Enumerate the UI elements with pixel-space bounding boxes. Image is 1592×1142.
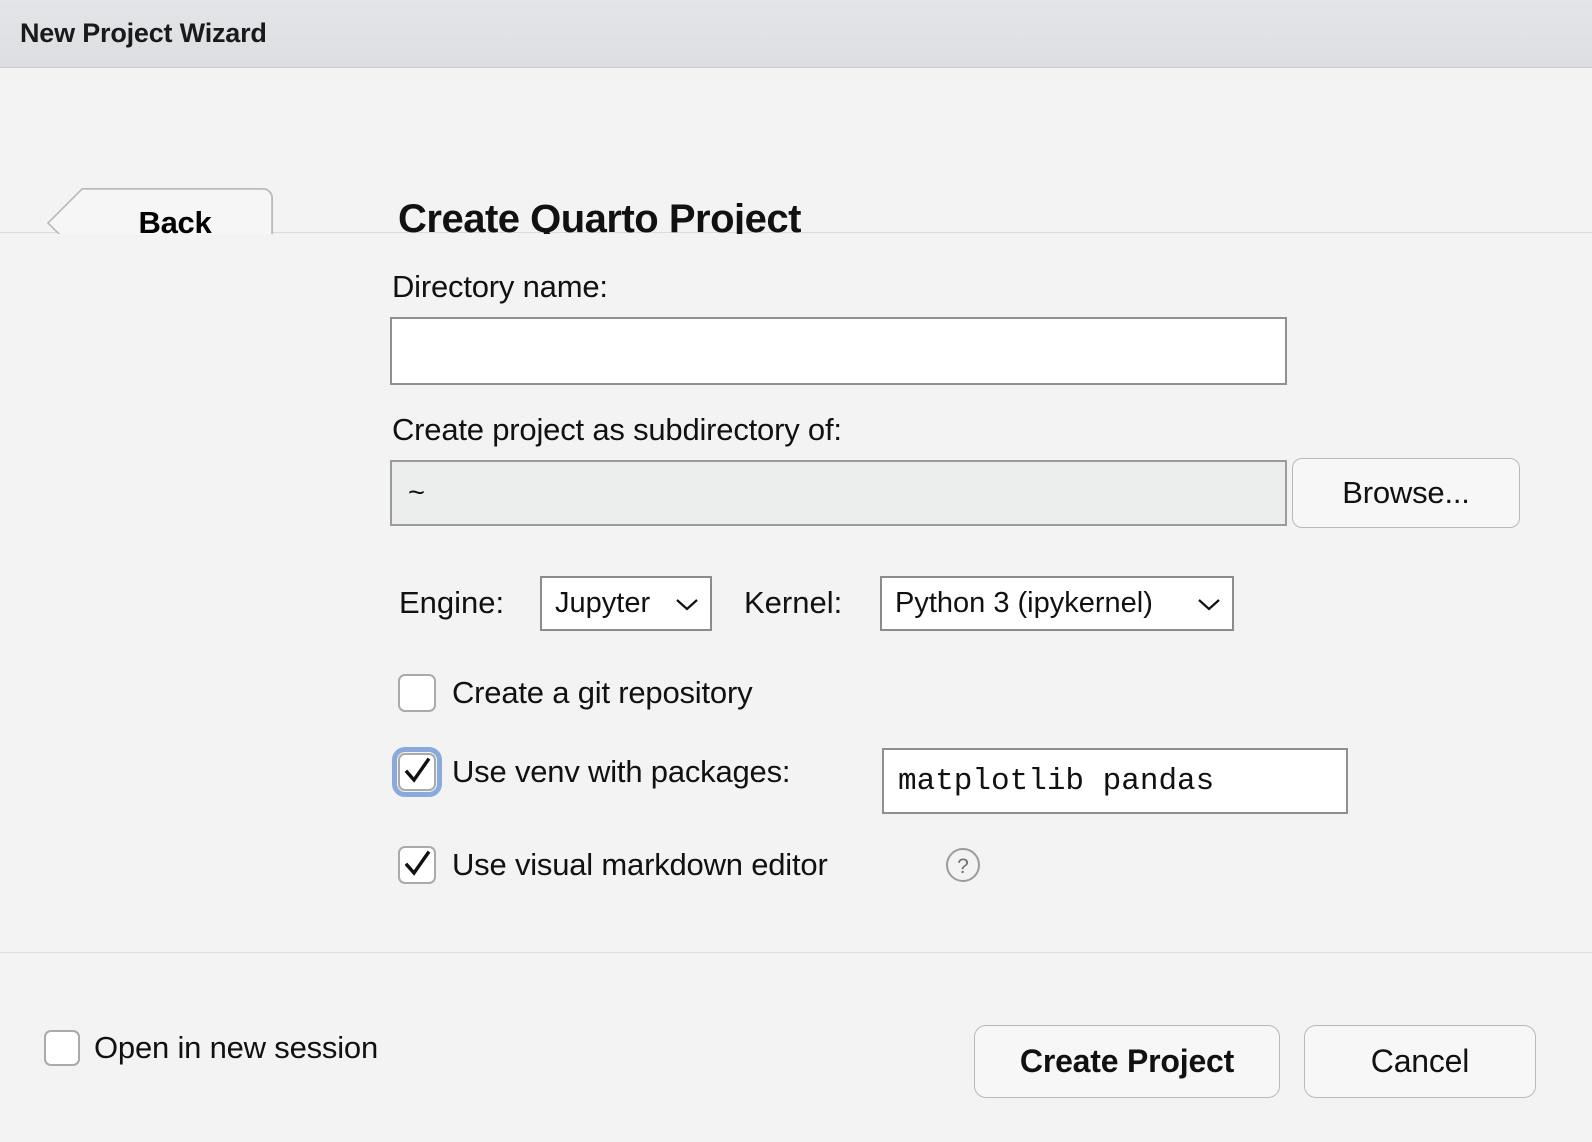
directory-name-label: Directory name: — [392, 269, 608, 305]
checkmark-icon — [403, 849, 431, 879]
question-mark-circle-icon[interactable]: ? — [945, 847, 981, 883]
use-visual-markdown-editor-label: Use visual markdown editor — [452, 847, 828, 883]
use-visual-markdown-editor-row[interactable]: Use visual markdown editor — [398, 846, 828, 884]
engine-select[interactable]: Jupyter — [540, 576, 712, 631]
chevron-down-icon — [1196, 596, 1222, 612]
open-in-new-session-checkbox[interactable] — [44, 1030, 80, 1066]
checkmark-icon — [403, 756, 431, 786]
wizard-header: Back Create Quarto Project — [0, 69, 1592, 233]
svg-text:?: ? — [957, 855, 969, 878]
window-title: New Project Wizard — [20, 18, 267, 49]
directory-name-input[interactable] — [390, 317, 1287, 385]
use-visual-markdown-editor-checkbox[interactable] — [398, 846, 436, 884]
subdirectory-input[interactable] — [390, 460, 1287, 526]
create-git-repository-row[interactable]: Create a git repository — [398, 674, 752, 712]
chevron-down-icon — [674, 596, 700, 612]
create-project-button[interactable]: Create Project — [974, 1025, 1280, 1098]
engine-select-value: Jupyter — [542, 587, 650, 620]
open-in-new-session-row[interactable]: Open in new session — [44, 1030, 378, 1066]
create-git-repository-label: Create a git repository — [452, 675, 752, 711]
open-in-new-session-label: Open in new session — [94, 1030, 378, 1066]
window-title-bar: New Project Wizard — [0, 0, 1592, 68]
cancel-button[interactable]: Cancel — [1304, 1025, 1536, 1098]
create-git-repository-checkbox[interactable] — [398, 674, 436, 712]
kernel-label: Kernel: — [744, 585, 842, 621]
use-venv-checkbox[interactable] — [398, 753, 436, 791]
engine-label: Engine: — [399, 585, 504, 621]
browse-button[interactable]: Browse... — [1292, 458, 1520, 528]
use-venv-row[interactable]: Use venv with packages: — [398, 753, 790, 791]
kernel-select-value: Python 3 (ipykernel) — [882, 587, 1153, 620]
kernel-select[interactable]: Python 3 (ipykernel) — [880, 576, 1234, 631]
subdirectory-label: Create project as subdirectory of: — [392, 412, 842, 448]
venv-packages-input[interactable] — [882, 748, 1348, 814]
use-venv-label: Use venv with packages: — [452, 754, 790, 790]
